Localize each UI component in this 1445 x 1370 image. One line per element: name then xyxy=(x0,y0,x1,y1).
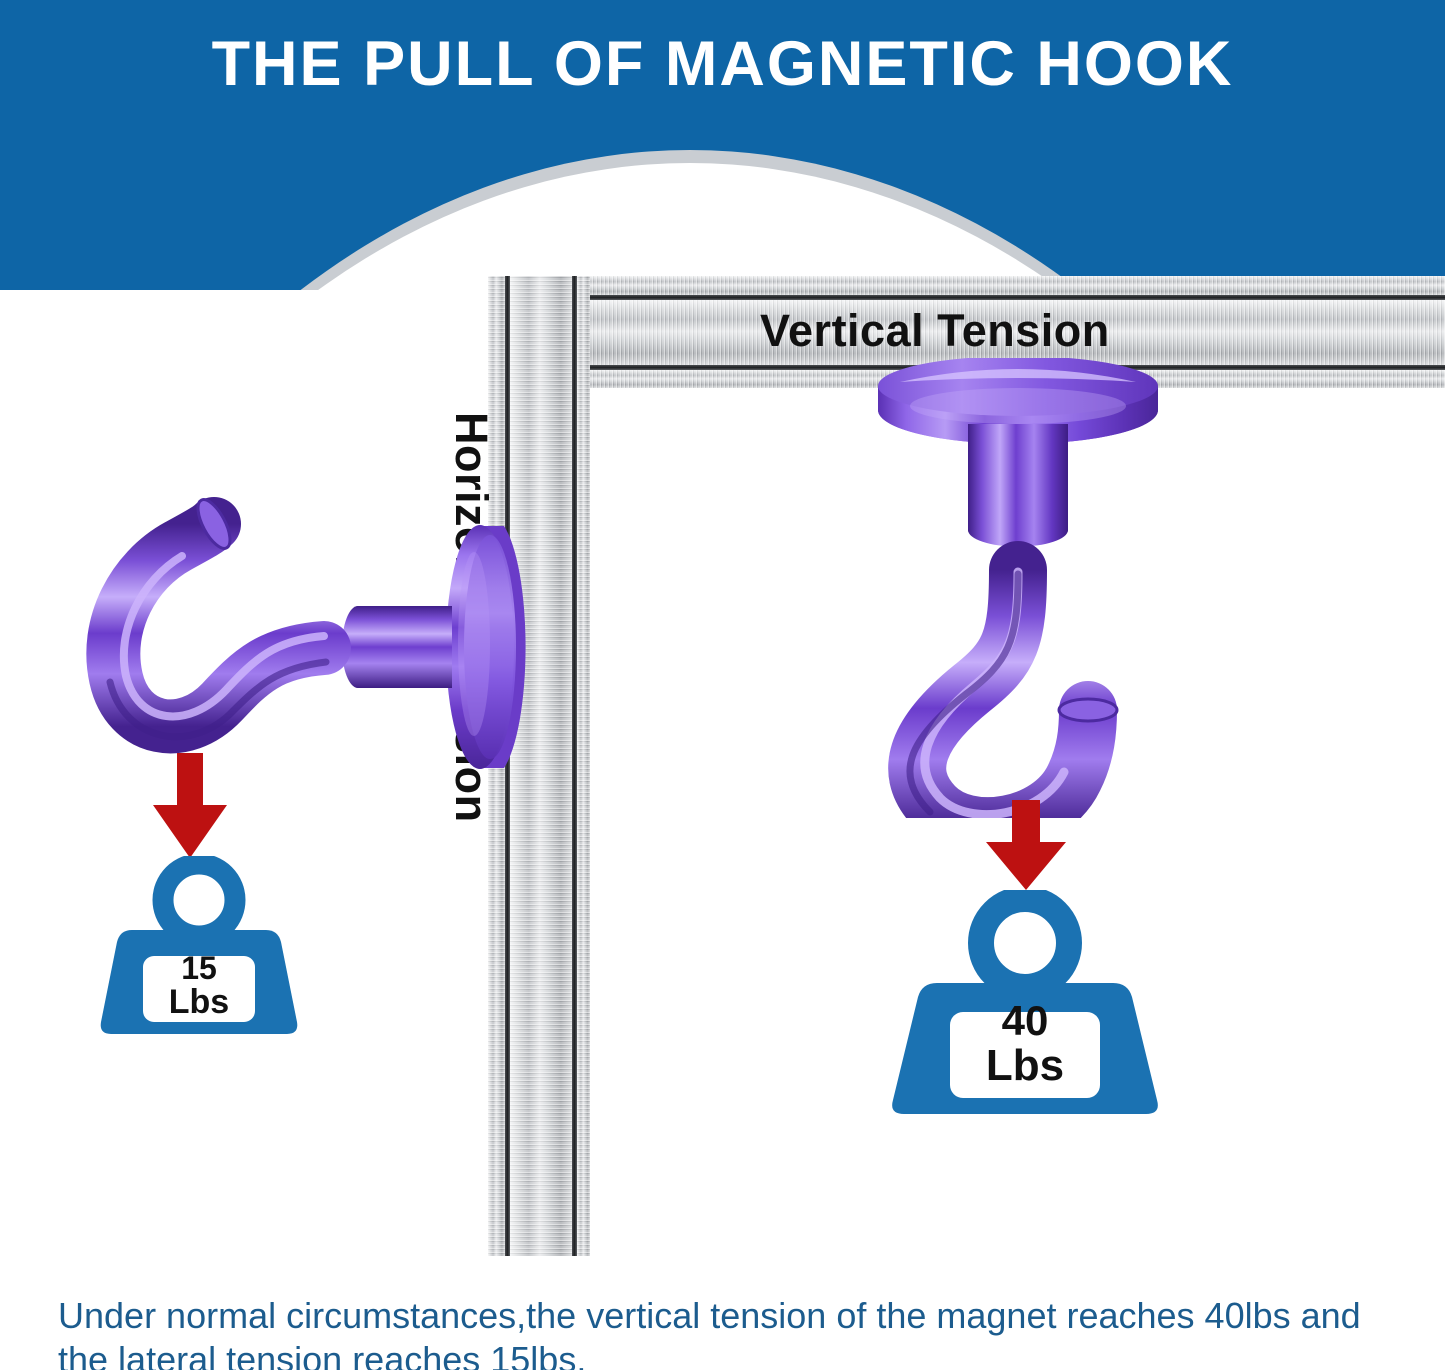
arrow-down-icon xyxy=(153,753,227,858)
force-arrow-vertical xyxy=(979,800,1073,890)
weight-40-unit: Lbs xyxy=(950,1044,1100,1089)
page-title: THE PULL OF MAGNETIC HOOK xyxy=(0,28,1445,100)
infographic-page: THE PULL OF MAGNETIC HOOK Vertical Tensi… xyxy=(0,0,1445,1370)
caption-text: Under normal circumstances,the vertical … xyxy=(58,1294,1398,1370)
magnet-disc-gloss-h xyxy=(458,552,490,736)
arrow-down-icon xyxy=(986,800,1066,890)
magnet-disc-gloss xyxy=(910,388,1126,424)
force-arrow-horizontal xyxy=(146,753,234,858)
weight-15-unit: Lbs xyxy=(143,985,255,1020)
beam-top-edge xyxy=(520,276,1445,295)
weight-ring-icon xyxy=(163,864,235,936)
beam-right-edge xyxy=(577,276,590,1256)
weight-40-amount: 40 xyxy=(950,1000,1100,1043)
weight-ring-icon xyxy=(981,899,1069,987)
vertical-magnetic-hook xyxy=(860,358,1180,818)
vertical-tension-label: Vertical Tension xyxy=(760,305,1110,357)
horizontal-magnetic-hook xyxy=(72,496,532,796)
hook-tip xyxy=(1059,699,1117,721)
header-banner: THE PULL OF MAGNETIC HOOK xyxy=(0,0,1445,290)
weight-15-amount: 15 xyxy=(143,952,255,985)
